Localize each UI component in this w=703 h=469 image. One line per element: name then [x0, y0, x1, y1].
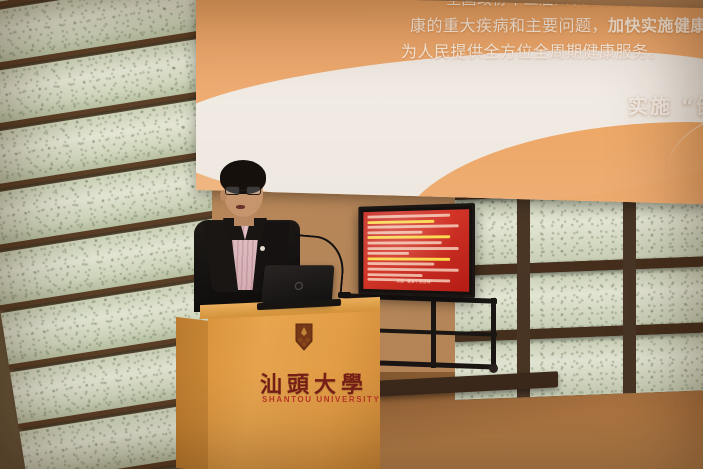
auditorium-photo: 全国政协十三届四次会议的医药卫生界 康的重大疾病和主要问题，加快实施健康中国行动…: [0, 0, 703, 469]
screen-text-line-3: 为人民提供全方位全周期健康服务。: [401, 38, 665, 62]
caster-wheel: [489, 364, 498, 373]
laptop-computer[interactable]: [257, 265, 341, 309]
mouth: [236, 205, 245, 209]
eyeglasses-icon: [224, 186, 264, 196]
university-crest-icon: [293, 323, 315, 351]
podium-side-panel: [176, 317, 210, 469]
screen-text-line-1: 全国政协十三届四次会议的医药卫生界: [446, 0, 703, 9]
podium: 汕頭大學 SHANTOU UNIVERSITY: [176, 303, 380, 469]
screen-text-line-2-prefix: 康的重大疾病和主要问题，: [410, 16, 608, 35]
screen-text-line-2-bold: 加快实施健康中国行动: [608, 16, 703, 35]
screen-text-line-2: 康的重大疾病和主要问题，加快实施健康中国行动，织牢国家公共卫生防护网: [410, 12, 703, 36]
display-monitor[interactable]: 实施 “健康中国战略”: [358, 203, 475, 298]
laptop-logo-icon: [294, 282, 303, 290]
laptop-lid: [261, 265, 334, 303]
lapel-pin: [260, 246, 265, 251]
slide-text-block: [368, 213, 465, 285]
slide-caption: 实施 “健康中国战略”: [363, 278, 469, 286]
monitor-screen: 实施 “健康中国战略”: [363, 209, 469, 292]
screen-headline: 实施 “健康中国战略”: [628, 90, 703, 119]
podium-english-name: SHANTOU UNIVERSITY: [262, 395, 380, 404]
